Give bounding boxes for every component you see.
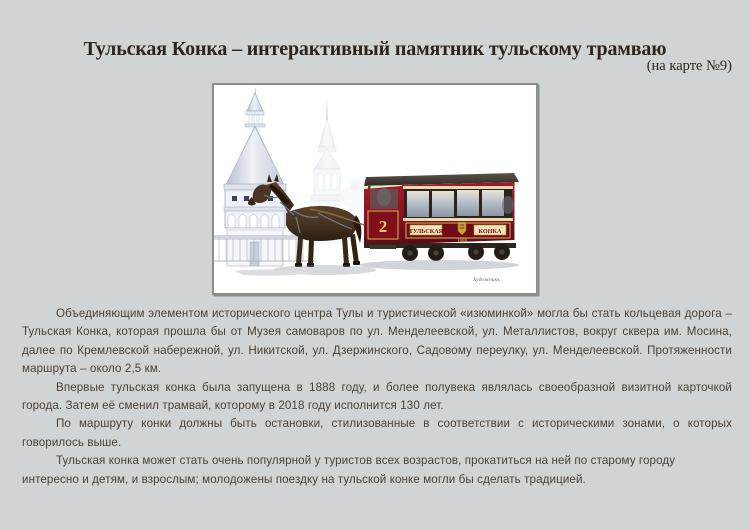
- page-title: Тульская Конка – интерактивный памятник …: [9, 38, 740, 61]
- horse-tram-car: ТУЛЬСКАЯ КОНКА 1888 2: [364, 173, 519, 261]
- paragraph-2: Впервые тульская конка была запущена в 1…: [22, 379, 732, 416]
- tram-sign-right: КОНКА: [479, 228, 502, 235]
- artist-signature: Художникъ: [472, 276, 500, 283]
- slide-page: Тульская Конка – интерактивный памятник …: [0, 0, 750, 530]
- horse-tram-watercolor-illustration: ТУЛЬСКАЯ КОНКА 1888 2: [214, 85, 536, 293]
- map-reference-note: (на карте №9): [647, 58, 732, 75]
- paragraph-4: Тульская конка может стать очень популяр…: [22, 452, 732, 489]
- illustration-frame: ТУЛЬСКАЯ КОНКА 1888 2: [212, 83, 538, 295]
- tram-car-number: 2: [379, 217, 388, 236]
- paragraph-1: Объединяющим элементом исторического цен…: [22, 305, 732, 379]
- article-body: Объединяющим элементом исторического цен…: [22, 305, 732, 489]
- paragraph-3: По маршруту конки должны быть остановки,…: [22, 415, 732, 452]
- tram-sign-left: ТУЛЬСКАЯ: [409, 228, 444, 235]
